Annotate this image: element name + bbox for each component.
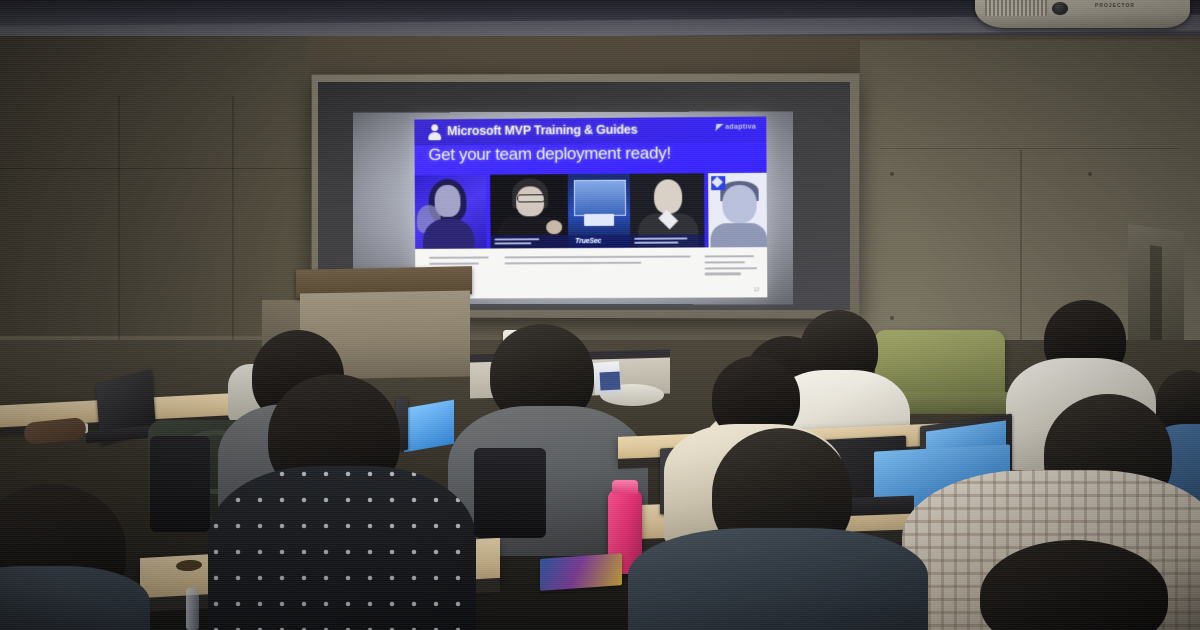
slide-photo-2 bbox=[490, 174, 568, 248]
training-room-photo: PROJECTOR Microsoft MVP Training & Guide… bbox=[0, 0, 1200, 630]
wall-seam-left-2 bbox=[232, 96, 234, 346]
slide-photo-3: TrueSec bbox=[568, 174, 630, 248]
truesec-logo-text: TrueSec bbox=[575, 238, 601, 245]
slide-footer-col-3 bbox=[705, 255, 760, 278]
slide-number: 12 bbox=[754, 287, 760, 293]
paper-blue bbox=[600, 371, 621, 390]
slide-headline: Get your team deployment ready! bbox=[428, 143, 671, 165]
slide-photo-4 bbox=[630, 173, 705, 248]
projector-lens-icon bbox=[1052, 2, 1068, 15]
flipchart-shadow bbox=[1150, 245, 1162, 355]
wall-screw-2 bbox=[1088, 172, 1092, 176]
wall-left-dark bbox=[0, 36, 310, 336]
slide-footer-col-2 bbox=[505, 255, 695, 267]
whiteboard-top-line bbox=[880, 148, 1180, 149]
slide-header-title: Microsoft MVP Training & Guides bbox=[447, 123, 637, 139]
slide-photo-2-caption bbox=[490, 235, 568, 248]
person-icon bbox=[428, 124, 441, 140]
slide-photo-1 bbox=[415, 175, 487, 249]
water-bottle-pink-cap bbox=[612, 480, 638, 494]
notebook-colorful bbox=[540, 553, 622, 591]
wall-seam-left bbox=[118, 96, 120, 346]
adaptiva-logo-text: adaptiva bbox=[725, 124, 756, 131]
wall-screw-3 bbox=[890, 316, 894, 320]
slide-photo-4-caption bbox=[630, 234, 704, 247]
whiteboard-seam bbox=[1020, 150, 1022, 340]
projector-brand-label: PROJECTOR bbox=[1095, 3, 1135, 9]
wall-screw-1 bbox=[890, 172, 894, 176]
projector-vent-icon bbox=[985, 0, 1047, 16]
chair-left bbox=[150, 436, 210, 532]
slide-photo-strip: TrueSec bbox=[415, 173, 767, 249]
water-bottle-clear bbox=[186, 588, 199, 630]
wall-seam-horizontal bbox=[0, 168, 310, 169]
slide-photo-5 bbox=[708, 173, 767, 248]
adaptiva-logo: adaptiva bbox=[716, 124, 756, 131]
chair-center bbox=[474, 448, 546, 538]
adaptiva-logo-mark-icon bbox=[716, 124, 724, 131]
